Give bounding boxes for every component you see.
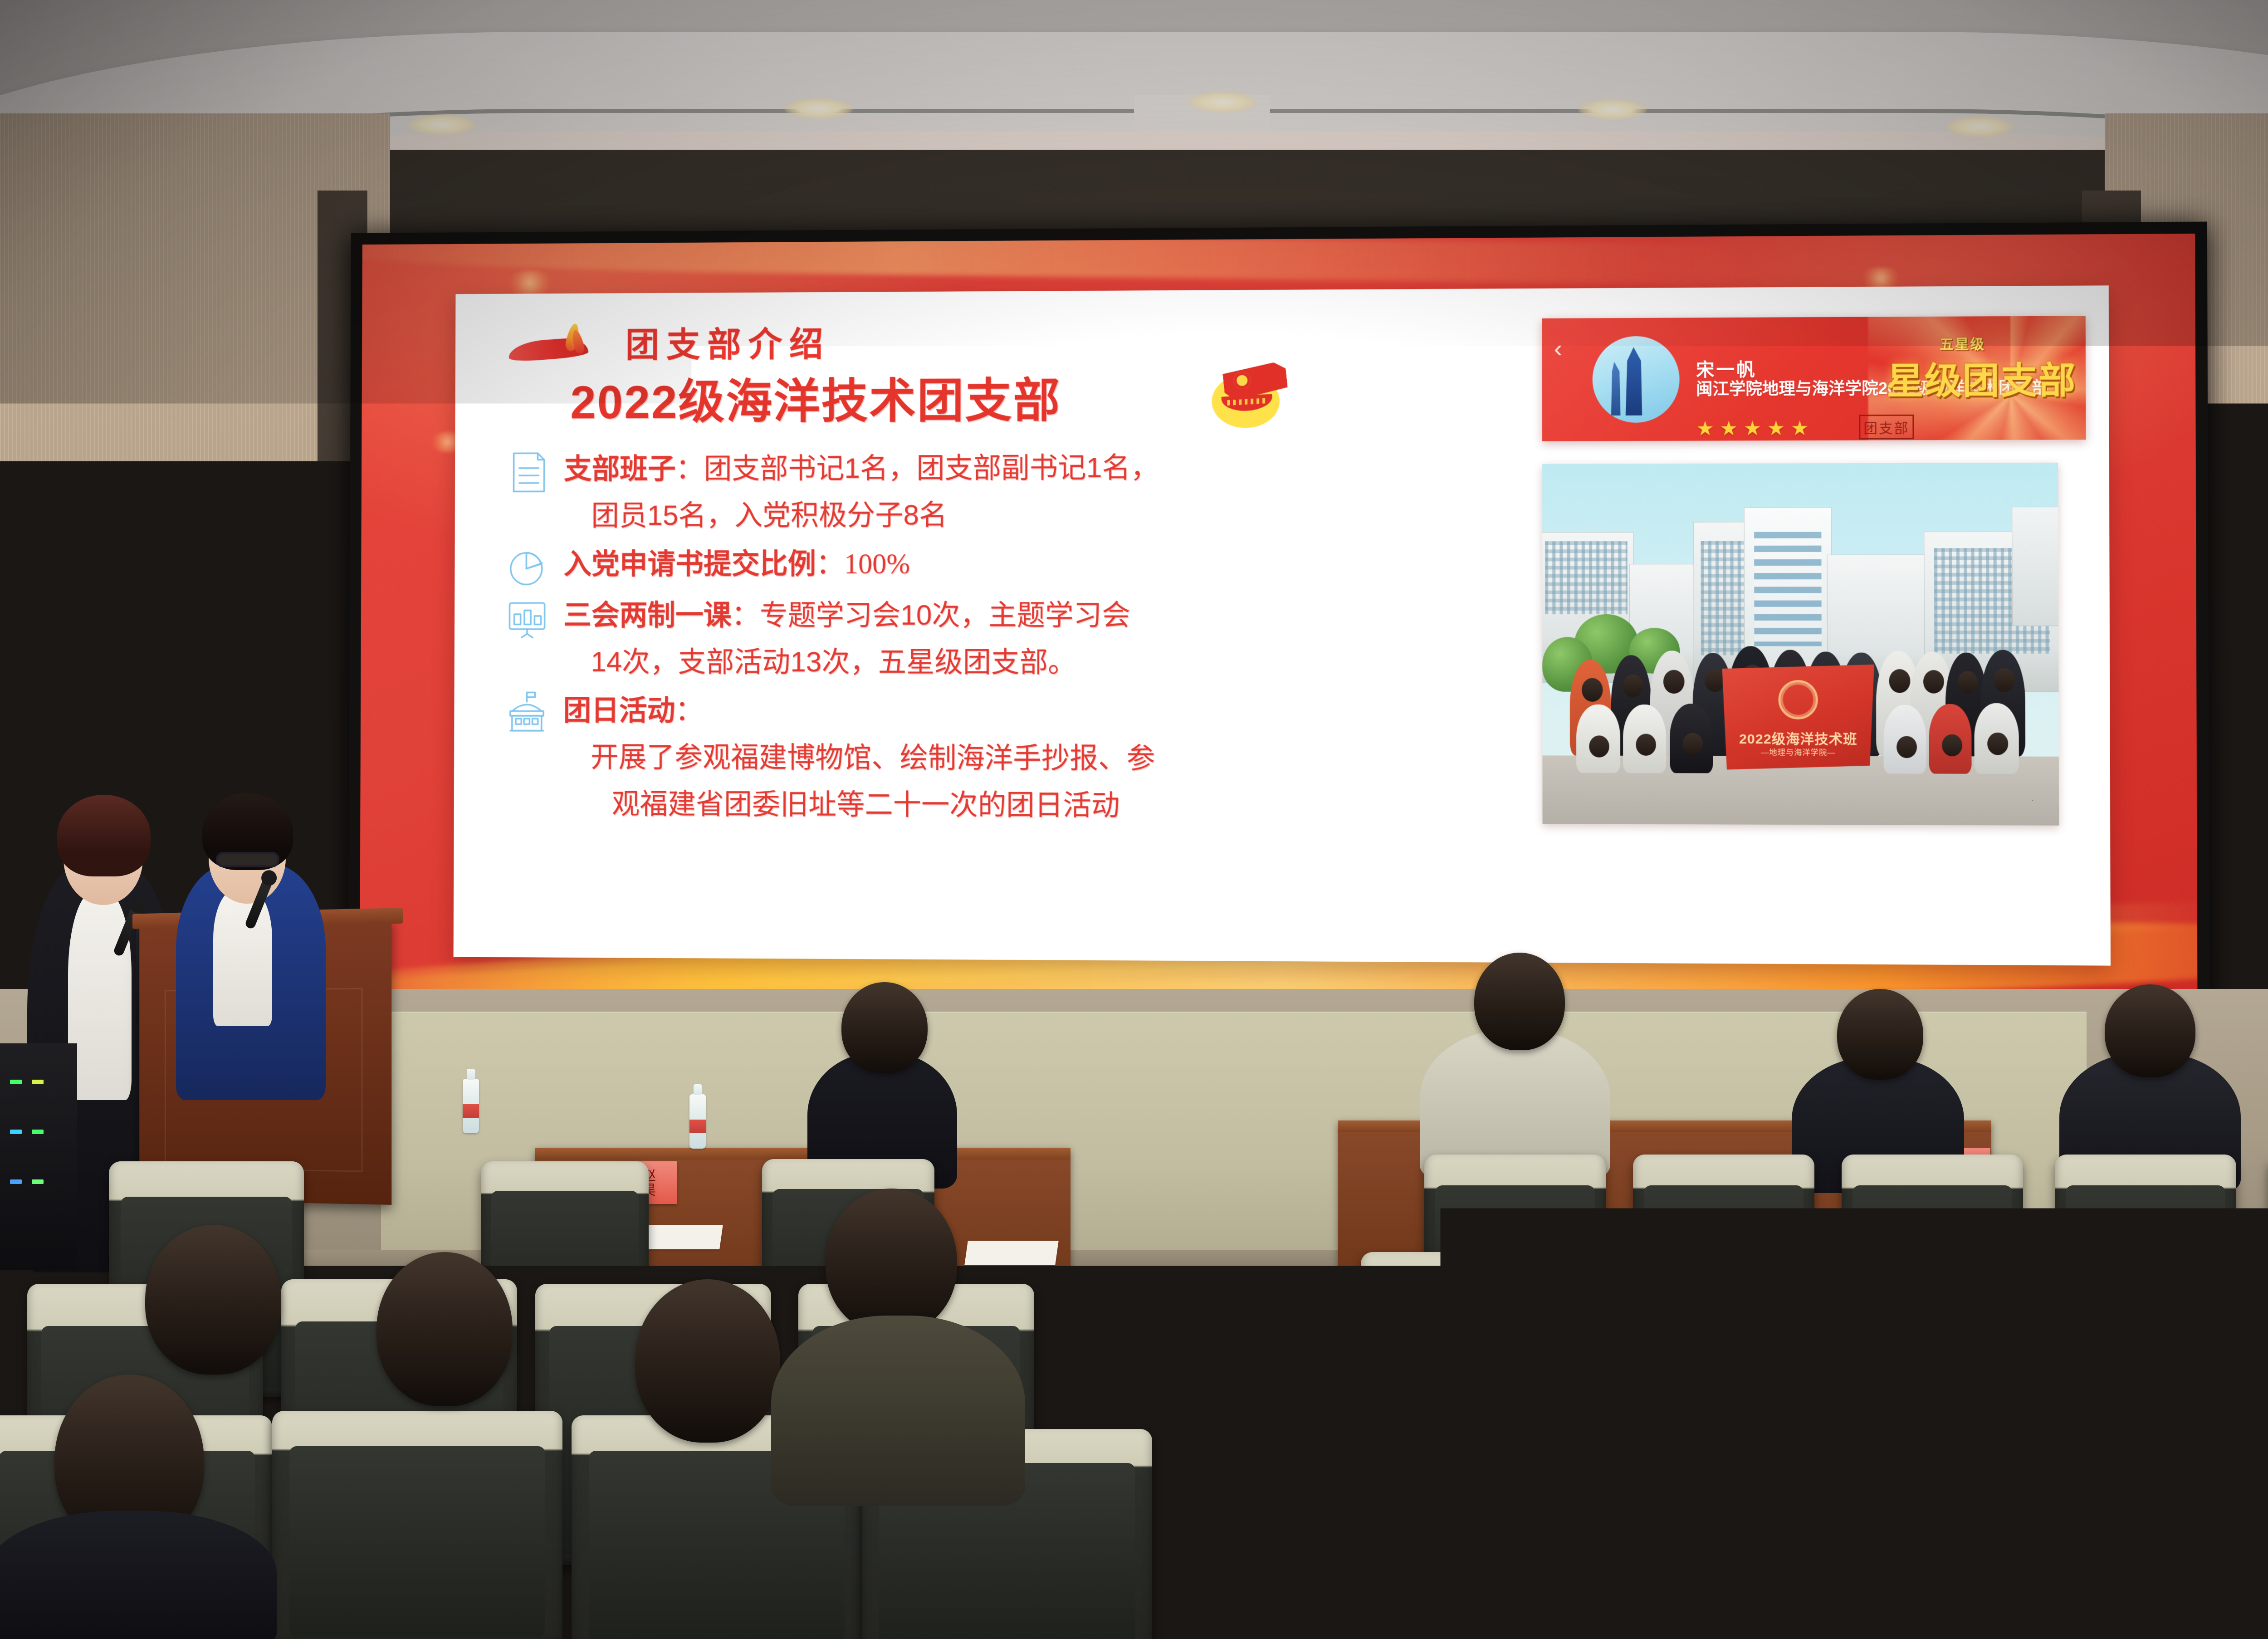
communist-youth-league-emblem-icon xyxy=(1206,362,1292,430)
pie-chart-icon xyxy=(503,543,552,590)
attendee-head xyxy=(841,982,928,1073)
ceiling-downlight xyxy=(1188,92,1256,113)
slide-bullet-list: 支部班子：团支部书记1名，团支部副书记1名， 团员15名，入党积极分子8名 xyxy=(503,443,1506,832)
star-rating: ★★★★★ xyxy=(1696,416,1814,440)
slide-header-title: 团支部介绍 xyxy=(626,316,831,367)
eyeglasses-icon xyxy=(216,852,279,867)
attendee-head xyxy=(826,1189,957,1334)
bullet-text: 支部班子：团支部书记1名，团支部副书记1名， 团员15名，入党积极分子8名 xyxy=(564,443,1506,539)
attendee-head xyxy=(1837,989,1923,1080)
auditorium-seat xyxy=(1624,1488,1941,1639)
bullet-text: 三会两制一课：专题学习会10次，主题学习会 14次，支部活动13次，五星级团支部… xyxy=(563,592,1506,686)
seat-armrest xyxy=(1442,1429,1469,1483)
page-title: 2022级海洋技术团支部 xyxy=(570,362,1061,432)
bullet-line: 三会两制一课：专题学习会10次，主题学习会 xyxy=(563,592,1506,639)
ceiling-downlight xyxy=(1946,116,2014,137)
water-bottle xyxy=(689,1094,706,1149)
ceiling-downlight xyxy=(785,98,853,119)
screen-surface: 团支部介绍 2022级海洋技术团支部 xyxy=(360,234,2198,1015)
award-prefix-label: 五星级 xyxy=(1940,333,1985,353)
ceiling-downlight xyxy=(408,114,476,135)
document-paper xyxy=(964,1241,1059,1265)
bullet-line: 团日活动： xyxy=(563,687,1505,735)
attendee-shoulders xyxy=(0,1511,277,1639)
attendee-head xyxy=(2105,984,2195,1077)
bullet-text: 入党申请书提交比例：100% xyxy=(563,539,1505,587)
bullet-item: 支部班子：团支部书记1名，团支部副书记1名， 团员15名，入党积极分子8名 xyxy=(503,443,1506,539)
bullet-line: 团员15名，入党积极分子8名 xyxy=(564,490,1506,539)
led-projection-screen: 团支部介绍 2022级海洋技术团支部 xyxy=(348,222,2209,1027)
slide-title-row: 2022级海洋技术团支部 xyxy=(570,361,1291,432)
attendee-head xyxy=(1474,953,1565,1050)
bullet-item: 入党申请书提交比例：100% xyxy=(503,539,1506,590)
presenter-left-shirt xyxy=(68,891,132,1100)
bullet-line: 14次，支部活动13次，五星级团支部。 xyxy=(563,639,1506,686)
class-banner: 2022级海洋技术班 —地理与海洋学院— xyxy=(1722,665,1875,770)
bullet-line: 观福建省团委旧址等二十一次的团日活动 xyxy=(563,780,1506,830)
torch-flag-logo-icon xyxy=(508,322,611,363)
document-paper xyxy=(642,1225,723,1249)
document-lines-icon xyxy=(503,449,552,495)
class-banner-main-text: 2022级海洋技术班 xyxy=(1739,728,1857,748)
building-flag-icon xyxy=(503,690,551,736)
award-banner-card: ‹ 宋一帆 闽江学院地理与海洋学院2022级海洋技术团支部 ★★★★★ 团支部 … xyxy=(1542,316,2086,441)
bullet-line: 开展了参观福建博物馆、绘制海洋手抄报、参 xyxy=(563,734,1506,783)
bullet-line: 入党申请书提交比例：100% xyxy=(563,539,1505,587)
attendee-head xyxy=(735,1452,889,1633)
bullet-item: 三会两制一课：专题学习会10次，主题学习会 14次，支部活动13次，五星级团支部… xyxy=(503,592,1506,686)
banner-person-name: 宋一帆 xyxy=(1696,355,1757,382)
bullet-text: 团日活动： 开展了参观福建博物馆、绘制海洋手抄报、参 观福建省团委旧址等二十一次… xyxy=(563,687,1506,830)
auditorium-room: 团支部介绍 2022级海洋技术团支部 xyxy=(0,0,2268,1639)
status-badge: 团支部 xyxy=(1859,415,1914,440)
presentation-bars-icon xyxy=(503,595,551,641)
group-photo: 2022级海洋技术班 —地理与海洋学院— xyxy=(1542,463,2059,826)
attendee-head xyxy=(145,1225,281,1375)
water-bottle xyxy=(463,1079,479,1133)
seat-armrest xyxy=(1334,1343,1360,1388)
bullet-item: 团日活动： 开展了参观福建博物馆、绘制海洋手抄报、参 观福建省团委旧址等二十一次… xyxy=(503,687,1506,830)
seat-armrest xyxy=(1696,1443,1723,1497)
award-title: 星级团支部 xyxy=(1887,351,2077,405)
ceiling-downlight xyxy=(1579,99,1647,120)
presenter-right-shirt xyxy=(213,890,272,1026)
auditorium-seat xyxy=(272,1411,562,1639)
chevron-left-icon[interactable]: ‹ xyxy=(1554,335,1562,363)
presenter-left-hair xyxy=(57,795,151,876)
slide-header: 团支部介绍 xyxy=(508,316,831,367)
attendee-head xyxy=(376,1252,513,1406)
presentation-slide: 团支部介绍 2022级海洋技术团支部 xyxy=(454,285,2111,965)
bokeh-glow xyxy=(503,270,557,296)
ribbon-highlight-top xyxy=(360,234,2198,293)
class-banner-sub-text: —地理与海洋学院— xyxy=(1761,746,1836,758)
attendee-head xyxy=(635,1279,780,1443)
avatar xyxy=(1593,336,1680,423)
bullet-line: 支部班子：团支部书记1名，团支部副书记1名， xyxy=(564,443,1505,493)
av-equipment-rack xyxy=(0,1043,77,1270)
